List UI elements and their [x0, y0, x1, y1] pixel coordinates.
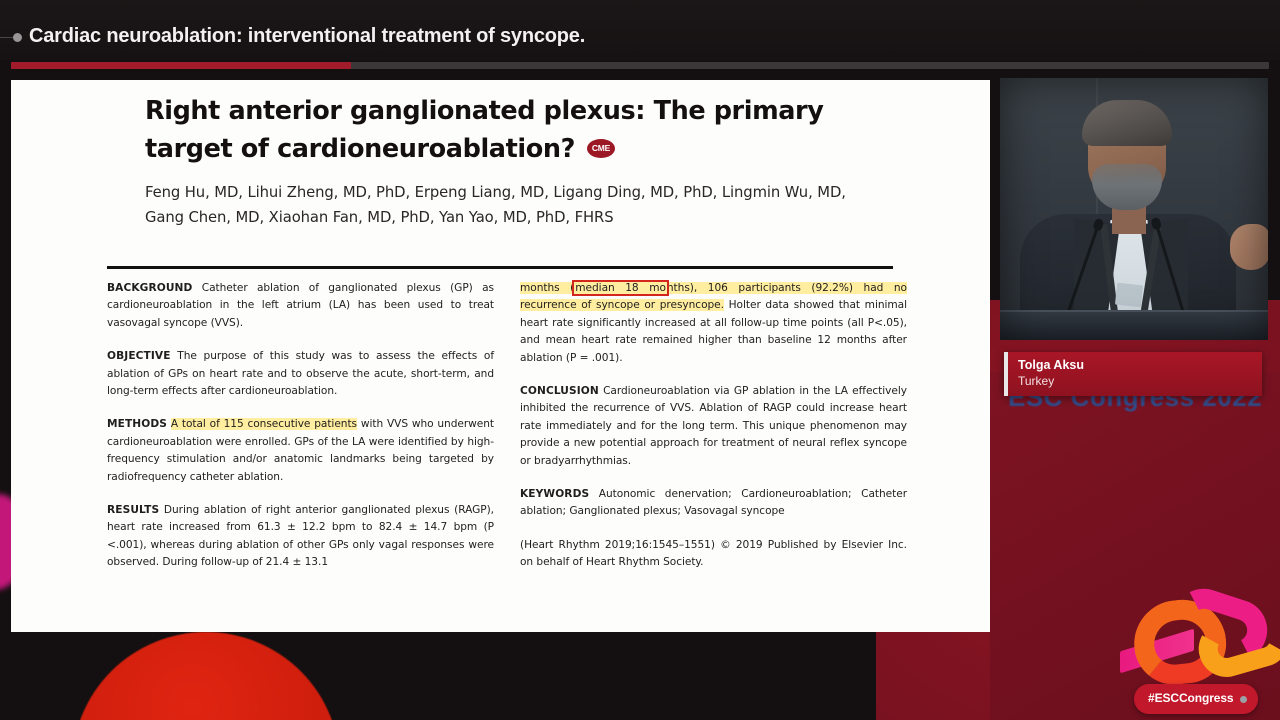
- section-text: Cardioneuroablation via GP ablation in t…: [520, 385, 907, 467]
- horizontal-rule: [107, 266, 893, 269]
- podium: [1000, 310, 1268, 340]
- nameplate-accent-bar: [1004, 352, 1008, 396]
- paper-authors: Feng Hu, MD, Lihui Zheng, MD, PhD, Erpen…: [145, 180, 885, 230]
- section-label: OBJECTIVE: [107, 350, 171, 362]
- speaker-hand: [1230, 224, 1268, 270]
- results-highlight-pre: months (: [520, 282, 574, 294]
- page-title: Cardiac neuroablation: interventional tr…: [29, 25, 585, 48]
- results-boxed-median: median 18 mo: [574, 282, 667, 294]
- dot-icon: [1240, 696, 1247, 703]
- hashtag-pill: #ESCCongress: [1134, 684, 1258, 714]
- abstract-section-objective: OBJECTIVE The purpose of this study was …: [107, 348, 494, 400]
- abstract-section-background: BACKGROUND Catheter ablation of ganglion…: [107, 280, 494, 332]
- speaker-badge: [1115, 283, 1143, 308]
- abstract-section-keywords: KEYWORDS Autonomic denervation; Cardione…: [520, 486, 907, 521]
- esc-congress-logo: #ESCCongress: [1128, 594, 1280, 720]
- speaker-country: Turkey: [1018, 374, 1054, 388]
- hashtag-label: #ESCCongress: [1148, 691, 1234, 705]
- cme-badge-icon: CME: [587, 139, 615, 158]
- methods-highlight: A total of 115 consecutive patients: [171, 418, 357, 430]
- background-red-circle: [72, 632, 340, 720]
- abstract-section-results-continued: months (median 18 months), 106 participa…: [520, 280, 907, 367]
- header-bar: Cardiac neuroablation: interventional tr…: [0, 0, 1280, 60]
- paper-title: Right anterior ganglionated plexus: The …: [145, 92, 885, 168]
- section-text: During ablation of right anterior gangli…: [107, 504, 494, 568]
- abstract-section-conclusion: CONCLUSION Cardioneuroablation via GP ab…: [520, 383, 907, 470]
- speaker-name: Tolga Aksu: [1018, 358, 1084, 372]
- section-label: KEYWORDS: [520, 488, 589, 500]
- slide-panel[interactable]: Right anterior ganglionated plexus: The …: [11, 80, 990, 632]
- speaker-nameplate: Tolga Aksu Turkey: [1004, 352, 1262, 396]
- playback-progress-bar[interactable]: [11, 62, 1269, 69]
- abstract-right-column: months (median 18 months), 106 participa…: [520, 280, 907, 572]
- section-label: BACKGROUND: [107, 282, 192, 294]
- abstract-citation: (Heart Rhythm 2019;16:1545–1551) © 2019 …: [520, 537, 907, 572]
- playback-progress-fill: [11, 62, 351, 69]
- section-label: METHODS: [107, 418, 167, 430]
- dot-icon: [13, 33, 22, 42]
- abstract-section-results: RESULTS During ablation of right anterio…: [107, 502, 494, 572]
- abstract-section-methods: METHODS A total of 115 consecutive patie…: [107, 416, 494, 486]
- speaker-video[interactable]: [1000, 78, 1268, 340]
- section-label: CONCLUSION: [520, 385, 599, 397]
- section-label: RESULTS: [107, 504, 159, 516]
- abstract-left-column: BACKGROUND Catheter ablation of ganglion…: [107, 280, 494, 572]
- screen: Cardiac neuroablation: interventional tr…: [0, 0, 1280, 720]
- abstract-body: BACKGROUND Catheter ablation of ganglion…: [107, 280, 907, 572]
- speaker-lanyard: [1104, 224, 1156, 324]
- paper-title-text: Right anterior ganglionated plexus: The …: [145, 96, 823, 164]
- speaker-hair: [1082, 100, 1172, 146]
